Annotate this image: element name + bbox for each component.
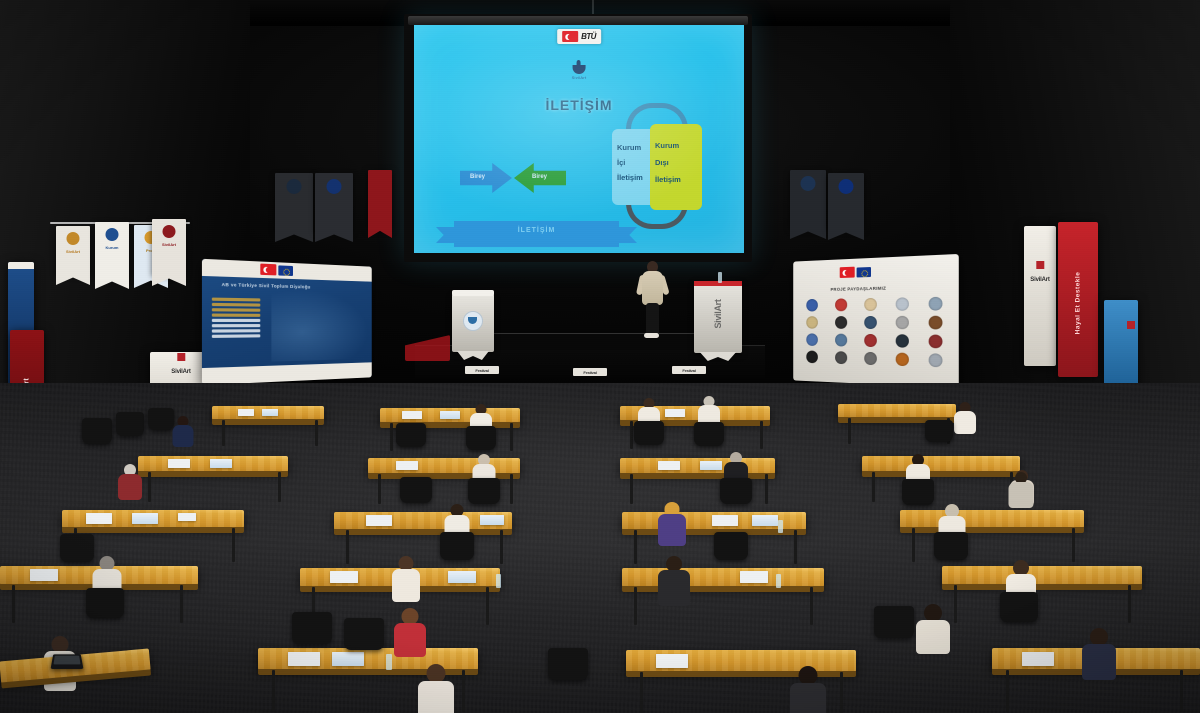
slide-org-logo-label: SivilArt bbox=[572, 75, 587, 80]
chair bbox=[694, 422, 724, 446]
slide-title: İLETİŞİM bbox=[414, 97, 744, 113]
sivilart-logo-icon bbox=[572, 65, 585, 74]
paper bbox=[700, 461, 722, 470]
eu-flag-icon bbox=[278, 265, 293, 276]
paper bbox=[86, 513, 112, 524]
chair bbox=[934, 532, 968, 560]
attendee-body bbox=[392, 569, 420, 602]
paper bbox=[262, 409, 278, 416]
box-external-line-3: İletişim bbox=[655, 175, 681, 186]
chair bbox=[902, 479, 934, 505]
partner-logo-icon bbox=[835, 298, 847, 311]
arrow-left-icon bbox=[460, 163, 512, 193]
banner-white-title: PROJE PAYDAŞLARIMIZ bbox=[831, 286, 887, 292]
paper bbox=[480, 515, 504, 525]
paper bbox=[440, 411, 460, 419]
chair bbox=[400, 477, 432, 503]
attendee bbox=[790, 666, 826, 713]
ribbon-banner bbox=[454, 221, 619, 247]
sivilart-left-label: SivilArt bbox=[171, 369, 190, 375]
partner-logo-icon bbox=[835, 316, 847, 329]
attendee-body bbox=[790, 683, 826, 713]
paper bbox=[396, 461, 418, 470]
stage-edge-sign-1-label: Festival bbox=[475, 368, 488, 373]
water-bottle-stage bbox=[718, 272, 722, 283]
projection-screen-header-bar bbox=[408, 16, 748, 25]
attendee bbox=[172, 416, 194, 446]
attendee bbox=[658, 556, 690, 604]
water-bottle bbox=[386, 654, 392, 670]
slide-org-logo: SivilArt bbox=[572, 65, 587, 80]
partner-logo-icon bbox=[896, 334, 909, 347]
arrow-left-label: Birey bbox=[470, 174, 485, 180]
table-row bbox=[620, 458, 775, 474]
pennant-1-logo-icon bbox=[67, 232, 80, 245]
chair bbox=[714, 532, 748, 560]
attendee-body bbox=[658, 514, 686, 546]
paper bbox=[366, 515, 392, 526]
table-row bbox=[622, 568, 824, 587]
attendee-body bbox=[1008, 482, 1033, 508]
banner-blue-rollup: AB ve Türkiye Sivil Toplum Diyaloğu bbox=[202, 259, 372, 385]
presenter-legs bbox=[646, 303, 659, 336]
stage-edge-sign-3: Festival bbox=[672, 366, 706, 374]
pullup-right-white: SivilArt bbox=[1024, 226, 1056, 366]
chair bbox=[634, 421, 664, 445]
chair bbox=[466, 426, 496, 450]
attendee bbox=[954, 402, 976, 433]
water-bottle bbox=[496, 574, 501, 588]
chair bbox=[925, 420, 953, 442]
sivilart-logo-right: SivilArt bbox=[1030, 268, 1049, 286]
stage-edge-sign-2-label: Festival bbox=[583, 370, 596, 375]
partner-logo-icon bbox=[807, 316, 819, 328]
pullup-right-red: Hayal Et Destekle bbox=[1058, 222, 1098, 377]
sivilart-logo-left: SivilArt bbox=[171, 360, 190, 378]
pennant-8 bbox=[828, 173, 864, 229]
paper bbox=[330, 571, 358, 583]
partner-logo-icon bbox=[928, 297, 942, 311]
attendee bbox=[394, 608, 426, 654]
pullup-right-red-label: Hayal Et Destekle bbox=[1075, 271, 1082, 334]
partner-logo-icon bbox=[865, 352, 878, 365]
partner-logo-icon bbox=[865, 298, 878, 311]
table-row bbox=[942, 566, 1142, 585]
partner-logo-icon bbox=[928, 353, 942, 367]
attendee-body bbox=[394, 623, 426, 657]
stage-edge-sign-1: Festival bbox=[465, 366, 499, 374]
partner-logo-icon bbox=[835, 334, 847, 347]
presentation-slide: BTÜ SivilArt İLETİŞİM Birey Birey İLETİŞ… bbox=[414, 25, 744, 253]
table-row bbox=[368, 458, 520, 474]
paper bbox=[30, 569, 58, 581]
attendee bbox=[916, 604, 950, 652]
paper bbox=[665, 409, 685, 417]
attendee-body bbox=[118, 474, 142, 500]
chair bbox=[344, 618, 384, 650]
pennant-6 bbox=[315, 173, 353, 231]
pennant-4: SivilArt bbox=[152, 219, 186, 275]
paper bbox=[132, 513, 158, 524]
table-row bbox=[838, 404, 956, 418]
chair bbox=[1000, 592, 1038, 622]
pennant-6-logo-icon bbox=[327, 179, 342, 194]
attendee bbox=[118, 464, 142, 498]
paper bbox=[656, 654, 688, 668]
partner-logo-icon bbox=[865, 334, 878, 347]
pennant-7 bbox=[790, 170, 826, 228]
laptop bbox=[51, 654, 84, 669]
water-bottle bbox=[776, 574, 781, 588]
lectern-left bbox=[452, 294, 494, 352]
paper bbox=[288, 652, 320, 666]
banner-blue-flags bbox=[260, 264, 293, 276]
eu-flag-wall-icon bbox=[839, 179, 854, 194]
turkish-flag-wall bbox=[368, 170, 392, 228]
banner-blue-text-lines bbox=[212, 298, 260, 341]
pennant-7-logo-icon bbox=[801, 176, 816, 191]
attendee bbox=[392, 556, 420, 600]
lectern-left-emblem-icon bbox=[463, 311, 483, 331]
chair bbox=[86, 588, 124, 618]
arrow-right-label: Birey bbox=[532, 174, 547, 180]
banner-white-partners: PROJE PAYDAŞLARIMIZ bbox=[793, 254, 959, 388]
paper bbox=[712, 515, 738, 526]
attendee-body bbox=[1082, 644, 1116, 680]
presenter-shoes bbox=[644, 333, 659, 338]
attendee bbox=[658, 502, 686, 544]
partner-logo-icon bbox=[896, 353, 909, 367]
table-row bbox=[900, 510, 1084, 528]
pennant-4-label: SivilArt bbox=[152, 242, 186, 247]
partner-logo-icon bbox=[896, 297, 909, 310]
paper bbox=[658, 461, 680, 470]
partner-logo-grid bbox=[800, 297, 950, 368]
pennant-4-logo-icon bbox=[163, 225, 176, 238]
pennant-1: SivilArt bbox=[56, 226, 90, 274]
attendee bbox=[418, 664, 454, 713]
attendee-body bbox=[954, 411, 976, 434]
chair bbox=[440, 532, 474, 560]
pennant-2-label: Kurum bbox=[95, 245, 129, 250]
stage-edge-sign-2: Festival bbox=[573, 368, 607, 376]
banner-white-flags bbox=[840, 266, 871, 278]
attendee bbox=[1008, 472, 1033, 506]
partner-logo-icon bbox=[928, 316, 942, 330]
lectern-left-top bbox=[452, 290, 494, 296]
presenter-torso bbox=[642, 271, 663, 305]
chair bbox=[148, 408, 174, 430]
paper bbox=[1022, 652, 1054, 666]
pennant-5-logo-icon bbox=[287, 179, 302, 194]
chair bbox=[720, 478, 752, 504]
pullup-right-white-label: SivilArt bbox=[1030, 277, 1049, 283]
chair bbox=[468, 478, 500, 504]
attendee-body bbox=[173, 425, 194, 447]
chair bbox=[874, 606, 914, 638]
pennant-1-label: SivilArt bbox=[56, 249, 90, 254]
partner-logo-icon bbox=[807, 351, 819, 364]
paper bbox=[168, 459, 190, 468]
ribbon-label: İLETİŞİM bbox=[454, 227, 619, 234]
pullup-left-blue-header bbox=[8, 262, 34, 269]
box-internal-line-3: İletişim bbox=[617, 173, 643, 184]
turkey-flag-icon-2 bbox=[260, 264, 276, 276]
lectern-right-brand: SivilArt bbox=[713, 300, 723, 329]
paper bbox=[238, 409, 254, 416]
pennant-5 bbox=[275, 173, 313, 231]
presenter bbox=[640, 261, 664, 337]
chair bbox=[396, 423, 426, 447]
chair bbox=[548, 648, 588, 680]
partner-logo-icon bbox=[896, 316, 909, 329]
paper bbox=[448, 571, 476, 583]
partner-logo-icon bbox=[807, 299, 819, 312]
paper bbox=[752, 515, 778, 526]
box-external-line-2: Dışı bbox=[655, 158, 669, 169]
partner-logo-icon bbox=[835, 351, 847, 364]
box-internal-line-2: İçi bbox=[617, 158, 625, 169]
turkey-flag-icon-3 bbox=[840, 267, 855, 278]
partner-logo-icon bbox=[865, 316, 878, 329]
eu-flag-icon-2 bbox=[857, 267, 871, 277]
pennant-2: Kurum bbox=[95, 222, 129, 278]
slide-header-mark: BTÜ bbox=[581, 32, 596, 41]
paper bbox=[402, 411, 422, 419]
paper bbox=[210, 459, 232, 468]
paper bbox=[178, 513, 196, 521]
attendee-body bbox=[658, 570, 690, 606]
chair bbox=[116, 412, 144, 436]
box-internal-line-1: Kurum bbox=[617, 143, 641, 154]
box-external-line-1: Kurum bbox=[655, 141, 679, 152]
stage-edge-sign-3-label: Festival bbox=[682, 368, 695, 373]
attendee-body bbox=[916, 620, 950, 654]
lectern-right: SivilArt bbox=[694, 281, 742, 353]
banner-blue-graphic bbox=[271, 288, 368, 361]
chair bbox=[82, 418, 112, 444]
turkey-flag-icon bbox=[562, 31, 578, 42]
water-bottle bbox=[778, 520, 783, 533]
chair bbox=[60, 534, 94, 562]
chair bbox=[292, 612, 332, 644]
banner-blue-headline: AB ve Türkiye Sivil Toplum Diyaloğu bbox=[222, 282, 311, 290]
attendee-body bbox=[418, 681, 454, 713]
pennant-2-logo-icon bbox=[106, 228, 119, 241]
table-row bbox=[862, 456, 1020, 472]
partner-logo-icon bbox=[928, 335, 942, 349]
conference-hall-photo: BTÜ SivilArt İLETİŞİM Birey Birey İLETİŞ… bbox=[0, 0, 1200, 713]
partner-logo-icon bbox=[807, 333, 819, 346]
slide-header-logo: BTÜ bbox=[557, 29, 601, 44]
pullup-right-blue bbox=[1104, 300, 1138, 392]
paper bbox=[332, 652, 364, 666]
paper bbox=[740, 571, 768, 583]
attendee bbox=[1082, 628, 1116, 678]
